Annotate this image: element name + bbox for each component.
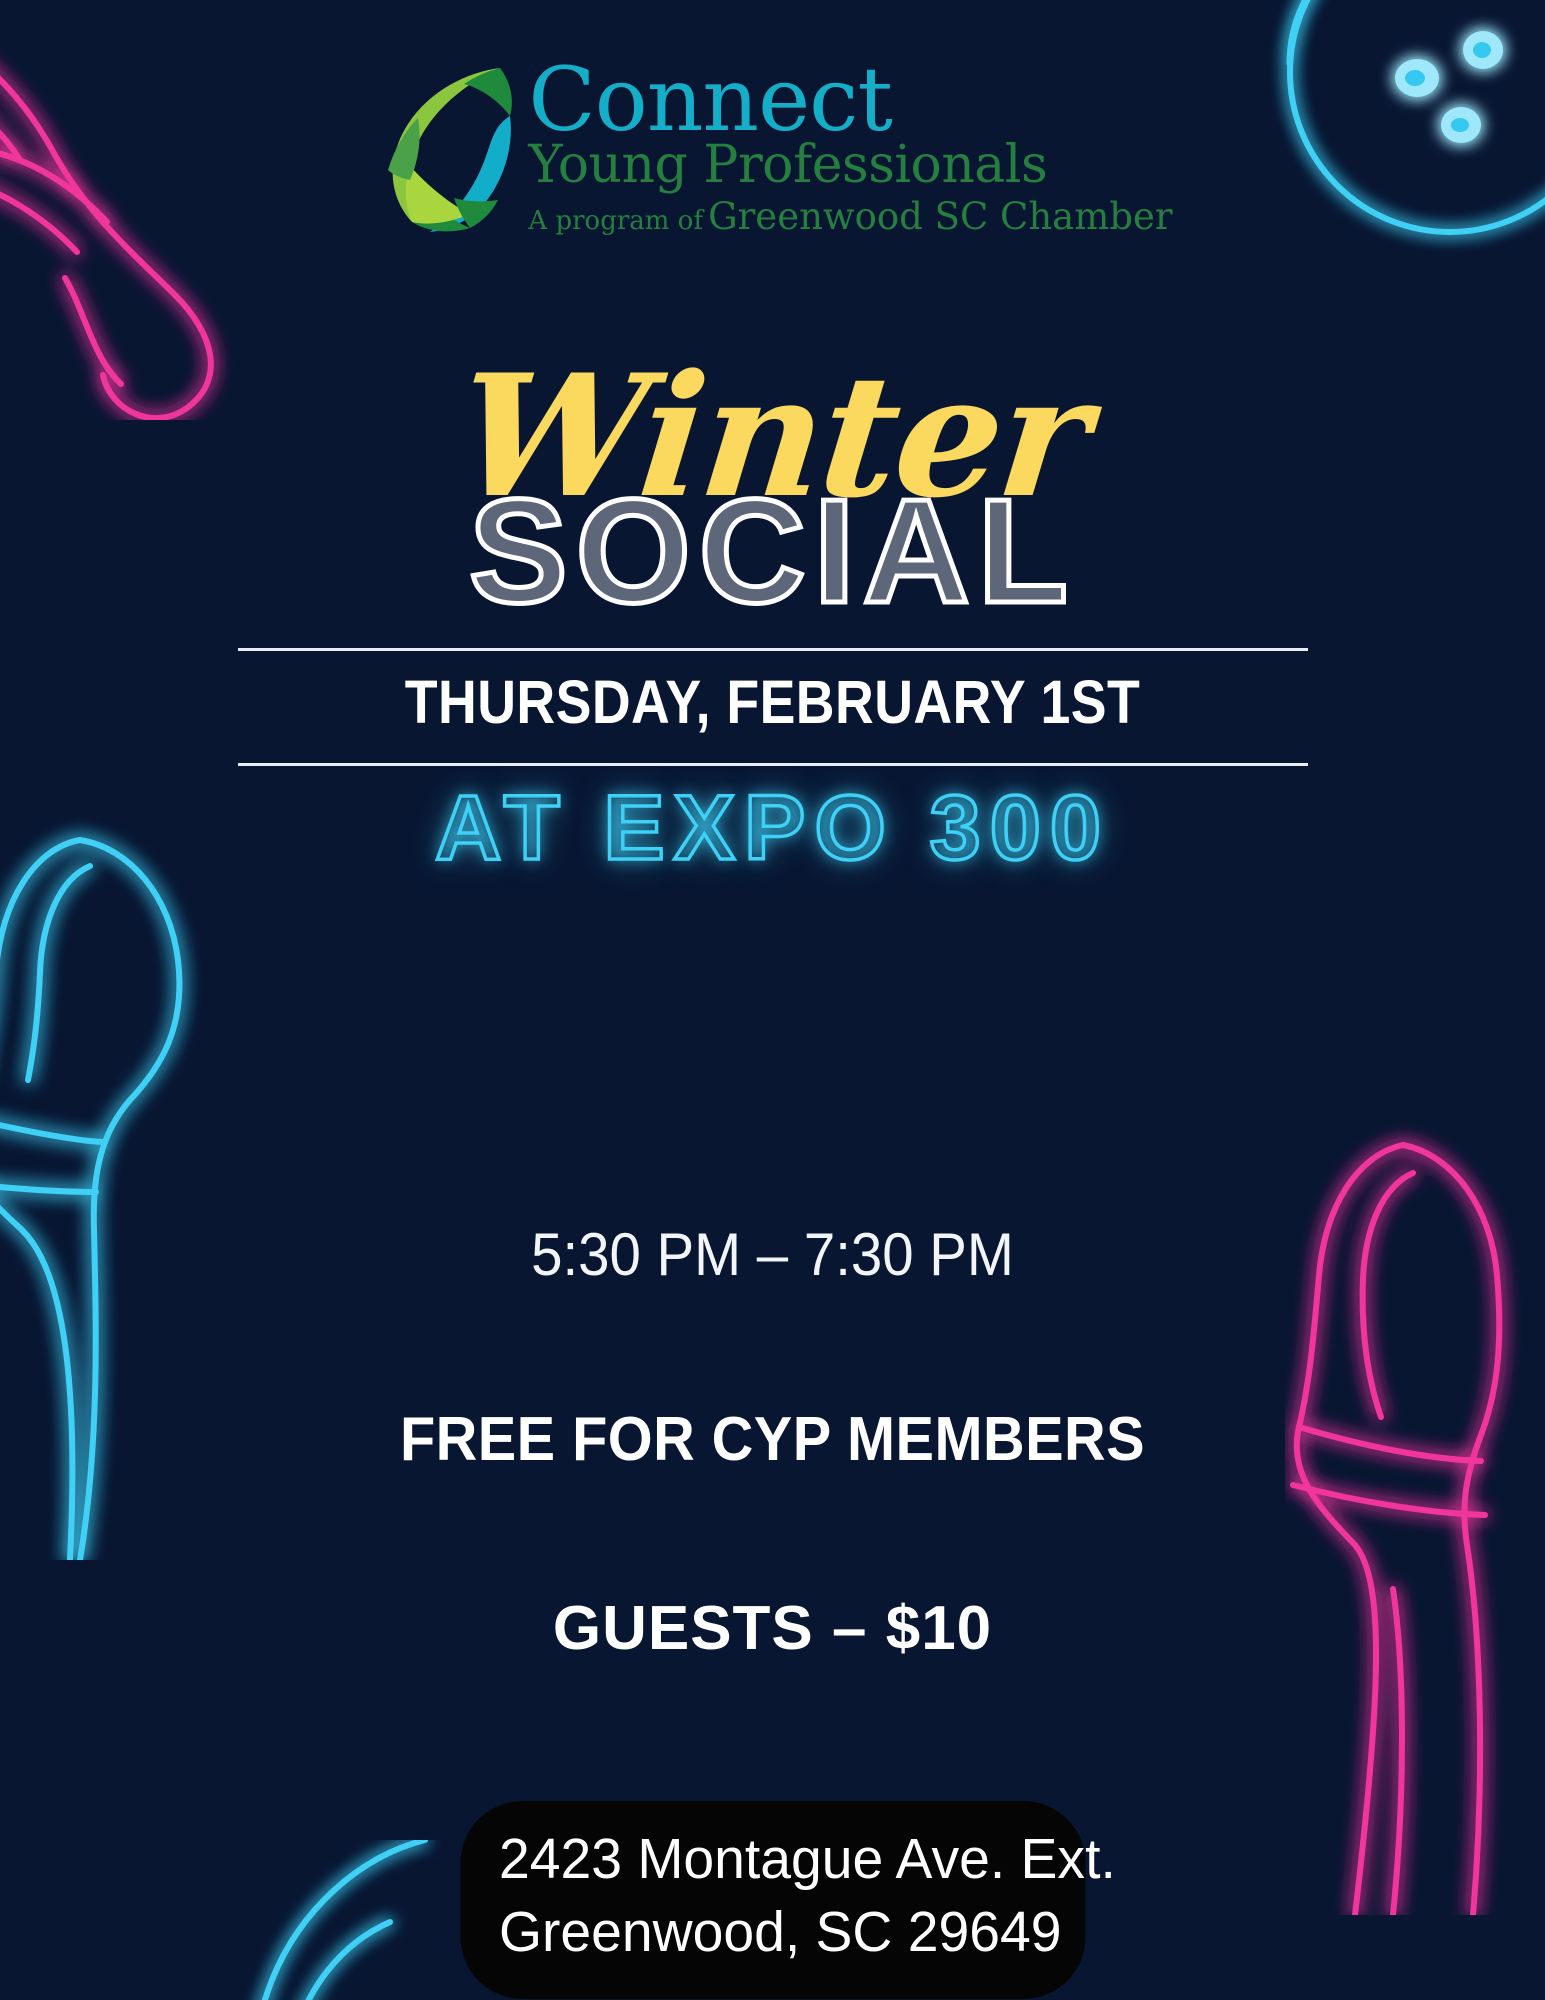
neon-decoration-layer [0,0,1545,2000]
address-line-1: 2423 Montague Ave. Ext. [498,1823,1046,1896]
address-line-2: Greenwood, SC 29649 [498,1896,1046,1969]
logo-program-prefix: A program of [528,206,703,236]
headline-block-word: SOCIAL [0,478,1545,626]
logo-program-org: Greenwood SC Chamber [708,195,1173,238]
event-flyer: Connect Young Professionals A program of… [0,0,1545,2000]
divider-rule-bottom [238,763,1308,766]
logo-program-line: A program of Greenwood SC Chamber [528,195,1172,238]
address-badge: 2423 Montague Ave. Ext. Greenwood, SC 29… [460,1801,1085,1999]
member-price: FREE FOR CYP MEMBERS [54,1409,1491,1471]
logo-subtitle: Young Professionals [528,138,1172,193]
event-venue: AT EXPO 300 [0,782,1545,874]
logo-name: Connect [528,58,1172,142]
guest-price: GUESTS – $10 [0,1598,1545,1660]
divider-rule-top [238,648,1308,651]
event-time: 5:30 PM – 7:30 PM [46,1225,1498,1285]
connect-leaf-logo-icon [372,62,522,234]
event-date: THURSDAY, FEBRUARY 1ST [93,672,1453,733]
logo-block: Connect Young Professionals A program of… [0,58,1545,238]
